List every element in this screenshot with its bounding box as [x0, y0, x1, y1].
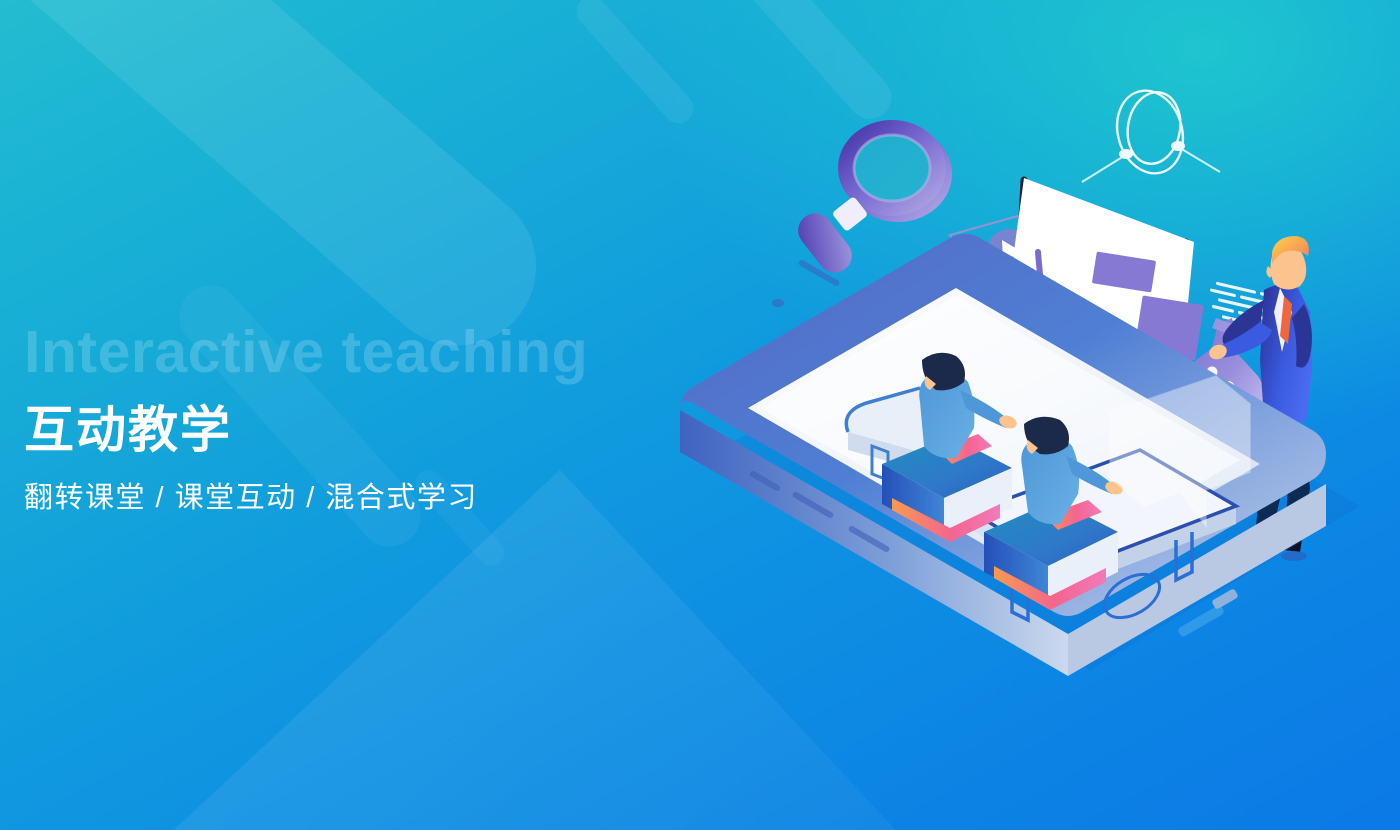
orbit-icon	[1082, 83, 1220, 182]
banner-subtitle: 翻转课堂 / 课堂互动 / 混合式学习	[24, 481, 724, 516]
interactive-teaching-banner: Interactive teaching 互动教学 翻转课堂 / 课堂互动 / …	[0, 0, 1400, 830]
banner-text-block: Interactive teaching 互动教学 翻转课堂 / 课堂互动 / …	[24, 322, 724, 516]
page-title: 互动教学	[24, 403, 724, 457]
ghost-title: Interactive teaching	[24, 322, 724, 382]
hero-illustration	[620, 60, 1400, 820]
